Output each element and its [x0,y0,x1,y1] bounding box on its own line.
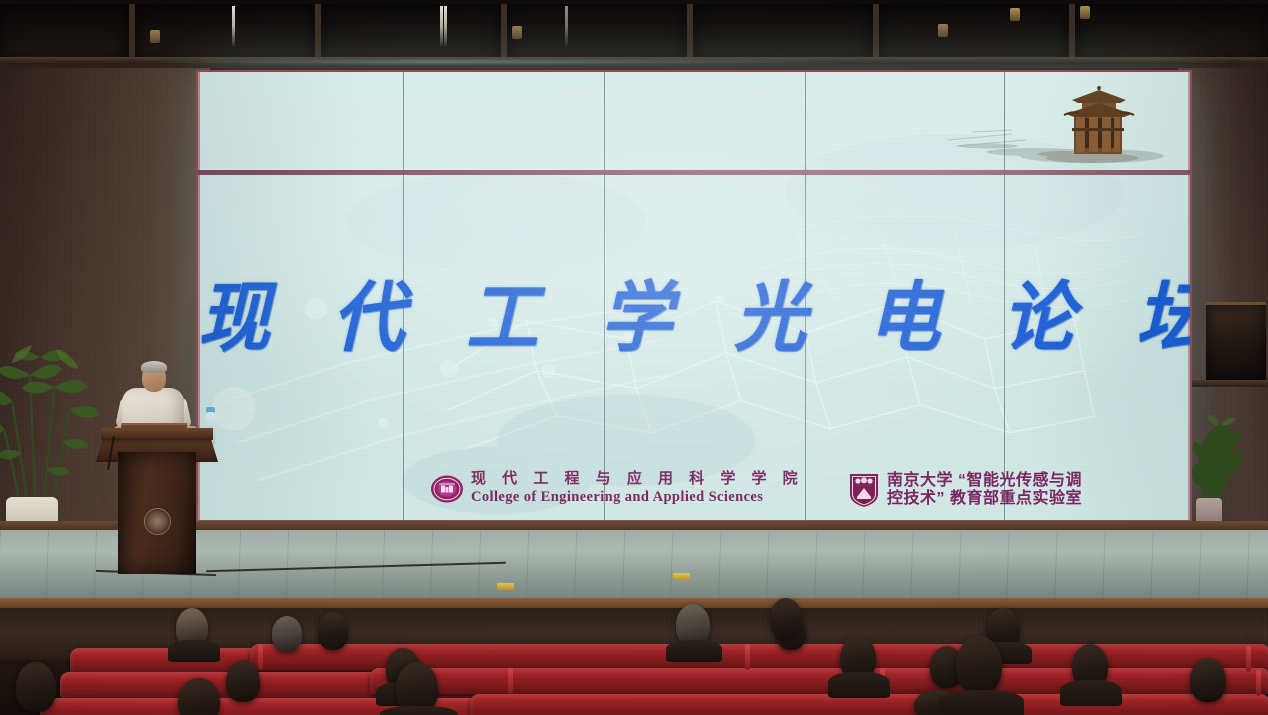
audience-head [16,662,56,712]
nju-seal-emblem [430,474,464,504]
logo-lab: 南京大学 “智能光传感与调 控技术” 教育部重点实验室 [848,472,1082,508]
wall-ledge [1192,380,1268,387]
potted-plant-right [1188,415,1246,507]
slide-divider-rule [198,170,1190,175]
nju-roundel-emblem [144,508,171,535]
logo-lab-cn-line2: 控技术” 教育部重点实验室 [887,490,1082,508]
audience-head [272,616,302,652]
audience-head [1190,658,1226,702]
pagoda-illustration [942,84,1172,172]
potted-bamboo-plant [0,345,114,510]
audience-head [318,612,348,650]
auditorium-photo: 现 代 工 学 光 电 论 坛 [0,0,1268,715]
audience-head [956,636,1002,694]
wall-mounted-loudspeaker [1206,302,1266,380]
slide-logo-strip: 现 代 工 程 与 应 用 科 学 学 院 College of Enginee… [198,456,1190,512]
nju-shield-crest [848,472,880,508]
logo-lab-cn-line1: 南京大学 “智能光传感与调 [887,472,1082,490]
ceiling-light-glow [150,60,850,64]
slide-title: 现 代 工 学 光 电 论 坛 [198,255,1190,366]
logo-college-en: College of Engineering and Applied Scien… [471,489,804,506]
stage-tape-mark [673,573,690,580]
seat-row [370,668,1268,694]
stage-tape-mark [497,583,514,590]
logo-college: 现 代 工 程 与 应 用 科 学 学 院 College of Enginee… [430,471,804,506]
audience-head [226,660,260,702]
audience-head [770,598,802,638]
logo-college-cn: 现 代 工 程 与 应 用 科 学 学 院 [471,471,804,488]
projection-screen: 现 代 工 学 光 电 论 坛 [196,70,1192,522]
presenter-hair [141,361,167,373]
